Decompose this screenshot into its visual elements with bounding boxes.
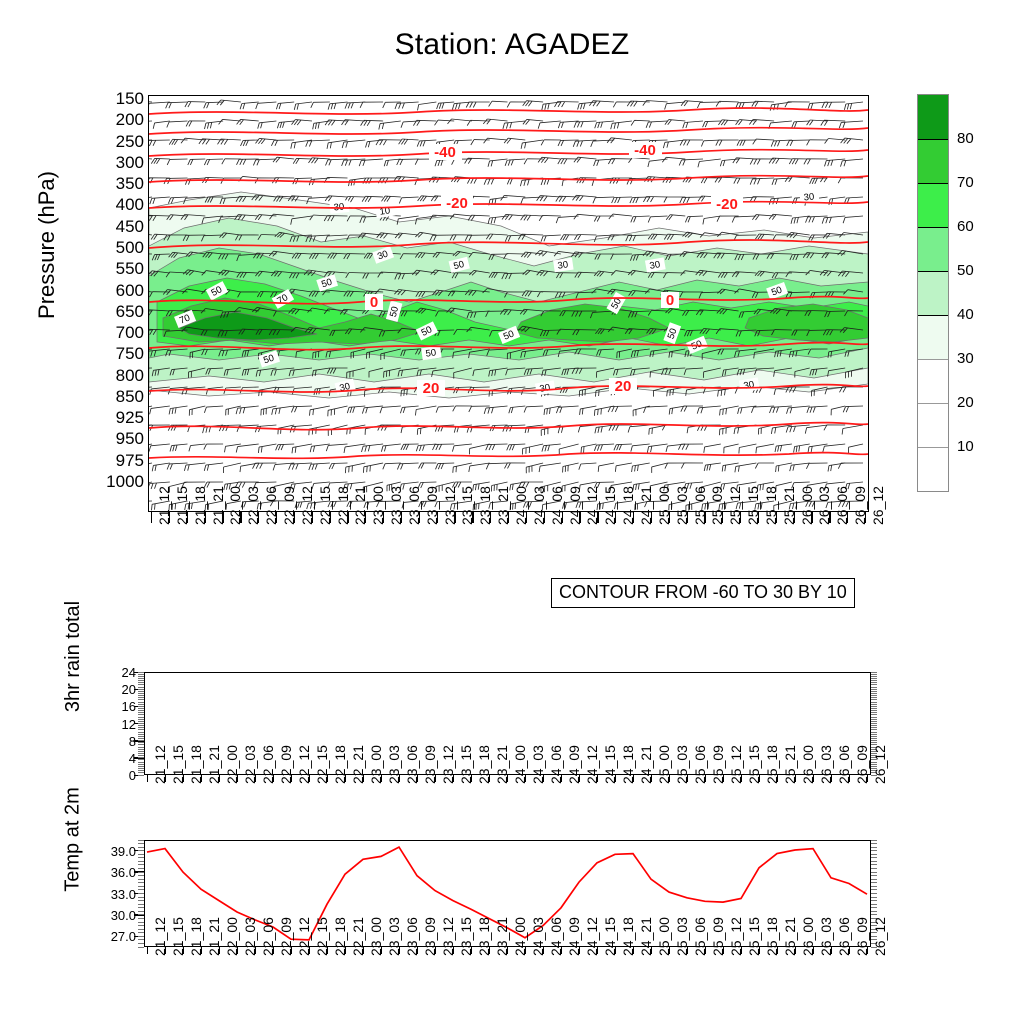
y-axis-tick-label: 250 xyxy=(116,133,144,150)
x-axis-tick-label: 22_00 xyxy=(227,486,243,525)
x-axis-tick-label: 22_21 xyxy=(350,917,366,956)
temp-y-minor-tick xyxy=(138,939,144,940)
x-axis-tick-label: 24_12 xyxy=(584,486,600,525)
x-axis-tick-label: 24_18 xyxy=(620,745,636,784)
x-axis-tick-label: 24_00 xyxy=(512,745,528,784)
temp-y-minor-tick xyxy=(871,889,877,890)
rain-y-minor-tick xyxy=(138,693,144,694)
temp-y-minor-tick xyxy=(871,861,877,862)
x-axis-tick-label: 24_06 xyxy=(548,917,564,956)
rain-y-minor-tick xyxy=(871,693,877,694)
x-axis-tick-label: 26_12 xyxy=(872,917,888,956)
temp-y-minor-tick xyxy=(138,900,144,901)
rain-y-tick-label: 8 xyxy=(102,734,136,749)
colorbar-segment xyxy=(918,139,948,183)
x-axis-tick-label: 25_00 xyxy=(656,917,672,956)
colorbar-segment xyxy=(918,447,948,491)
x-axis-tick-label: 24_12 xyxy=(584,745,600,784)
temp-y-minor-tick xyxy=(871,914,877,915)
x-axis-tick-label: 23_06 xyxy=(404,917,420,956)
rain-y-minor-tick xyxy=(871,687,877,688)
rain-y-minor-tick xyxy=(138,680,144,681)
temp-y-minor-tick xyxy=(871,847,877,848)
temp-y-minor-tick xyxy=(138,904,144,905)
x-axis-tick-label: 25_06 xyxy=(692,486,708,525)
x-axis-tick-label: 22_09 xyxy=(278,917,294,956)
x-axis-tick-label: 23_03 xyxy=(386,745,402,784)
x-axis-tick-label: 22_18 xyxy=(332,917,348,956)
x-axis-tick-label: 22_00 xyxy=(224,917,240,956)
x-axis-tick-label: 26_03 xyxy=(818,745,834,784)
x-axis-tick-label: 25_06 xyxy=(692,917,708,956)
temp-y-minor-tick xyxy=(871,897,877,898)
rain-y-minor-tick xyxy=(871,695,877,696)
x-axis-tick-label: 24_09 xyxy=(566,745,582,784)
temp-y-minor-tick xyxy=(138,911,144,912)
temp-y-minor-tick xyxy=(871,843,877,844)
svg-text:30: 30 xyxy=(743,379,755,392)
colorbar-tick-label: 50 xyxy=(957,262,974,279)
x-axis-tick-label: 24_18 xyxy=(620,917,636,956)
x-axis-tick-label: 23_15 xyxy=(458,917,474,956)
rain-y-minor-tick xyxy=(138,753,144,754)
x-axis-tick-label: 22_09 xyxy=(278,745,294,784)
svg-text:30: 30 xyxy=(539,382,551,395)
temp-y-minor-tick xyxy=(138,897,144,898)
rain-y-minor-tick xyxy=(138,766,144,767)
rain-y-minor-tick xyxy=(138,691,144,692)
x-axis-tick-label: 26_12 xyxy=(870,486,886,525)
temp-y-minor-tick xyxy=(871,875,877,876)
svg-text:-20: -20 xyxy=(716,196,738,213)
rain-y-minor-tick xyxy=(138,682,144,683)
x-axis-tick-label: 22_18 xyxy=(335,486,351,525)
x-axis-tick-label: 21_18 xyxy=(188,917,204,956)
svg-text:20: 20 xyxy=(423,380,440,397)
x-axis-tick-label: 25_21 xyxy=(782,745,798,784)
y-axis-tick-label: 650 xyxy=(116,303,144,320)
x-axis-tick-label: 24_15 xyxy=(602,917,618,956)
x-axis-tick-label: 23_21 xyxy=(494,917,510,956)
x-axis-tick-label: 23_09 xyxy=(424,486,440,525)
rain-y-minor-tick xyxy=(138,740,144,741)
x-axis-tick xyxy=(147,775,148,782)
rain-y-minor-tick xyxy=(138,738,144,739)
humidity-colorbar[interactable] xyxy=(917,94,949,492)
rain-y-minor-tick xyxy=(138,772,144,773)
rain-y-minor-tick xyxy=(871,732,877,733)
x-axis-tick-label: 26_09 xyxy=(852,486,868,525)
x-axis-tick-label: 25_00 xyxy=(656,745,672,784)
x-axis-tick-label: 25_18 xyxy=(764,745,780,784)
x-axis-tick-label: 23_03 xyxy=(386,917,402,956)
colorbar-segment xyxy=(918,403,948,447)
colorbar-segment xyxy=(918,227,948,271)
colorbar-tick-label: 80 xyxy=(957,130,974,147)
y-axis-tick-label: 975 xyxy=(116,452,144,469)
rain-y-minor-tick xyxy=(138,749,144,750)
rain-y-minor-tick xyxy=(138,704,144,705)
x-axis-tick-label: 25_12 xyxy=(728,917,744,956)
x-axis-tick-label: 22_03 xyxy=(242,917,258,956)
rain-y-minor-tick xyxy=(138,676,144,677)
svg-text:0: 0 xyxy=(666,292,674,309)
rain-y-minor-tick xyxy=(871,680,877,681)
rain-y-minor-tick xyxy=(138,674,144,675)
temp-y-minor-tick xyxy=(138,857,144,858)
rain-panel-title: 3hr rain total xyxy=(62,574,85,739)
y-axis-tick-label: 200 xyxy=(116,111,144,128)
temp-y-minor-tick xyxy=(138,872,144,873)
temp-y-minor-tick xyxy=(871,900,877,901)
rain-y-minor-tick xyxy=(138,695,144,696)
x-axis-tick-label: 22_12 xyxy=(299,486,315,525)
rain-y-minor-tick xyxy=(138,734,144,735)
x-axis-tick-label: 24_03 xyxy=(530,917,546,956)
temp-y-minor-tick xyxy=(871,882,877,883)
svg-text:20: 20 xyxy=(615,378,632,395)
rain-y-minor-tick xyxy=(138,706,144,707)
temp-y-tick-label: 39.0 xyxy=(94,844,136,859)
x-axis-tick-label: 22_00 xyxy=(224,745,240,784)
x-axis-tick-label: 21_12 xyxy=(152,745,168,784)
x-axis-tick-label: 26_06 xyxy=(834,486,850,525)
rain-y-minor-tick xyxy=(138,714,144,715)
rain-y-minor-tick xyxy=(871,738,877,739)
colorbar-segment xyxy=(918,183,948,227)
rain-y-minor-tick xyxy=(138,708,144,709)
x-axis-tick-label: 22_21 xyxy=(352,486,368,525)
x-axis-tick-label: 23_09 xyxy=(422,917,438,956)
rain-y-minor-tick xyxy=(871,704,877,705)
colorbar-tick-label: 20 xyxy=(957,394,974,411)
x-axis-tick-label: 26_12 xyxy=(872,745,888,784)
x-axis-tick-label: 25_21 xyxy=(781,486,797,525)
x-axis-tick-label: 22_18 xyxy=(332,745,348,784)
y-axis-tick-label: 700 xyxy=(116,324,144,341)
rain-y-minor-tick xyxy=(871,689,877,690)
x-axis-tick-label: 24_06 xyxy=(549,486,565,525)
rain-y-minor-tick xyxy=(138,759,144,760)
cross-section-plot[interactable]: 50 30 70 70 50 50 30 50 50 50 50 50 50 5… xyxy=(148,95,869,512)
rain-y-minor-tick xyxy=(871,734,877,735)
rain-y-minor-tick xyxy=(138,747,144,748)
x-axis-tick-label: 25_03 xyxy=(674,486,690,525)
x-axis-tick-label: 24_21 xyxy=(638,486,654,525)
temp-y-minor-tick xyxy=(138,864,144,865)
colorbar-tick-label: 10 xyxy=(957,438,974,455)
x-axis-tick-label: 21_18 xyxy=(188,745,204,784)
x-axis-tick-label: 24_03 xyxy=(531,486,547,525)
x-axis-tick-label: 22_06 xyxy=(260,745,276,784)
temp-y-minor-tick xyxy=(871,886,877,887)
rain-y-minor-tick xyxy=(871,674,877,675)
x-axis-tick-label: 21_21 xyxy=(206,917,222,956)
svg-text:-40: -40 xyxy=(434,144,456,161)
x-axis-tick-label: 23_06 xyxy=(406,486,422,525)
x-axis-tick-label: 23_18 xyxy=(476,917,492,956)
rain-y-tick-label: 16 xyxy=(102,699,136,714)
svg-text:50: 50 xyxy=(425,347,437,359)
colorbar-segment xyxy=(918,315,948,359)
rain-y-minor-tick xyxy=(138,727,144,728)
x-axis-tick-label: 23_15 xyxy=(459,486,475,525)
x-axis-tick xyxy=(151,512,152,523)
colorbar-segment xyxy=(918,95,948,139)
rain-y-minor-tick xyxy=(871,742,877,743)
x-axis-tick-label: 23_12 xyxy=(440,745,456,784)
x-axis-tick-label: 22_15 xyxy=(314,917,330,956)
x-axis-tick-label: 25_15 xyxy=(746,745,762,784)
rain-y-minor-tick xyxy=(138,678,144,679)
rain-y-minor-tick xyxy=(871,678,877,679)
temp-y-minor-tick xyxy=(138,925,144,926)
rain-y-minor-tick xyxy=(138,719,144,720)
page-title: Station: AGADEZ xyxy=(0,28,1024,62)
rain-y-minor-tick xyxy=(138,762,144,763)
temp-y-tick-label: 33.0 xyxy=(94,887,136,902)
temp-y-minor-tick xyxy=(871,872,877,873)
y-axis-tick-label: 150 xyxy=(116,90,144,107)
x-axis-tick-label: 21_21 xyxy=(210,486,226,525)
rain-y-minor-tick xyxy=(138,712,144,713)
temp-y-tick-label: 27.0 xyxy=(94,929,136,944)
temp-y-minor-tick xyxy=(138,886,144,887)
x-axis-tick-label: 26_09 xyxy=(854,917,870,956)
x-axis-tick-label: 26_00 xyxy=(799,486,815,525)
temp-y-minor-tick xyxy=(871,907,877,908)
cross-section-y-axis-labels: 1502002503003504004505005506006507007508… xyxy=(70,95,144,512)
svg-text:30: 30 xyxy=(649,259,661,272)
x-axis-tick-label: 22_09 xyxy=(281,486,297,525)
rain-y-minor-tick xyxy=(871,682,877,683)
x-axis-tick-label: 24_15 xyxy=(602,486,618,525)
rain-y-minor-tick xyxy=(871,708,877,709)
rain-y-minor-tick xyxy=(138,684,144,685)
temp-y-minor-tick xyxy=(871,904,877,905)
rain-y-minor-tick xyxy=(138,757,144,758)
x-axis-tick-label: 26_03 xyxy=(816,486,832,525)
x-axis-tick-label: 25_09 xyxy=(710,917,726,956)
x-axis-tick-label: 25_12 xyxy=(727,486,743,525)
rain-y-minor-tick xyxy=(138,723,144,724)
y-axis-tick-label: 950 xyxy=(116,430,144,447)
rain-y-tick-label: 12 xyxy=(102,717,136,732)
colorbar-tick-label: 60 xyxy=(957,218,974,235)
temp-y-minor-tick xyxy=(138,918,144,919)
rain-y-minor-tick xyxy=(138,751,144,752)
rain-y-minor-tick xyxy=(138,689,144,690)
x-axis-tick-label: 24_00 xyxy=(513,486,529,525)
rain-y-tick-label: 0 xyxy=(102,768,136,783)
y-axis-tick-label: 1000 xyxy=(106,473,144,490)
x-axis-tick-label: 25_12 xyxy=(728,745,744,784)
svg-text:0: 0 xyxy=(370,294,378,311)
x-axis-tick-label: 23_00 xyxy=(368,745,384,784)
x-axis-tick xyxy=(147,947,148,954)
x-axis-tick-label: 25_09 xyxy=(709,486,725,525)
x-axis-tick-label: 24_09 xyxy=(566,917,582,956)
x-axis-tick-label: 24_03 xyxy=(530,745,546,784)
x-axis-tick-label: 26_06 xyxy=(836,745,852,784)
rain-y-minor-tick xyxy=(138,697,144,698)
rain-y-minor-tick xyxy=(871,717,877,718)
x-axis-tick-label: 24_09 xyxy=(567,486,583,525)
temp-y-minor-tick xyxy=(138,932,144,933)
rain-y-minor-tick xyxy=(871,721,877,722)
rain-y-minor-tick xyxy=(138,775,144,776)
x-axis-tick-label: 23_00 xyxy=(370,486,386,525)
rain-y-minor-tick xyxy=(138,755,144,756)
rain-y-minor-tick xyxy=(871,719,877,720)
x-axis-tick-label: 25_15 xyxy=(745,486,761,525)
colorbar-tick-label: 70 xyxy=(957,174,974,191)
temp-y-minor-tick xyxy=(138,943,144,944)
x-axis-tick-label: 25_09 xyxy=(710,745,726,784)
x-axis-tick-label: 23_21 xyxy=(495,486,511,525)
svg-text:-20: -20 xyxy=(446,195,468,212)
temp-y-minor-tick xyxy=(871,911,877,912)
rain-y-minor-tick xyxy=(871,691,877,692)
cross-section-y-axis-title: Pressure (hPa) xyxy=(34,135,60,355)
x-axis-tick-label: 24_12 xyxy=(584,917,600,956)
x-axis-tick-label: 21_15 xyxy=(170,917,186,956)
y-axis-tick-label: 850 xyxy=(116,388,144,405)
x-axis-tick-label: 21_12 xyxy=(152,917,168,956)
rain-y-minor-tick xyxy=(871,736,877,737)
x-axis-tick-label: 21_15 xyxy=(174,486,190,525)
rain-y-minor-tick xyxy=(138,687,144,688)
rain-y-minor-tick xyxy=(138,721,144,722)
temp-y-minor-tick xyxy=(138,850,144,851)
temp-y-minor-tick xyxy=(871,854,877,855)
x-axis-tick-label: 22_21 xyxy=(350,745,366,784)
rain-y-minor-tick xyxy=(871,727,877,728)
x-axis-tick-label: 22_06 xyxy=(263,486,279,525)
x-axis-tick-label: 25_06 xyxy=(692,745,708,784)
x-axis-tick-label: 24_21 xyxy=(638,745,654,784)
temp-y-minor-tick xyxy=(138,947,144,948)
x-axis-tick-label: 22_03 xyxy=(242,745,258,784)
x-axis-tick-label: 23_09 xyxy=(422,745,438,784)
x-axis-tick-label: 26_03 xyxy=(818,917,834,956)
rain-y-minor-tick xyxy=(871,723,877,724)
rain-y-minor-tick xyxy=(138,770,144,771)
y-axis-tick-label: 800 xyxy=(116,367,144,384)
temp-y-minor-tick xyxy=(871,850,877,851)
colorbar-tick-label: 30 xyxy=(957,350,974,367)
rain-y-minor-tick xyxy=(138,768,144,769)
humidity-shading xyxy=(149,192,868,398)
rain-y-minor-tick xyxy=(138,764,144,765)
x-axis-tick-label: 23_06 xyxy=(404,745,420,784)
temp-y-minor-tick xyxy=(138,879,144,880)
rain-y-minor-tick xyxy=(138,717,144,718)
temp-y-minor-tick xyxy=(138,868,144,869)
y-axis-tick-label: 450 xyxy=(116,218,144,235)
rain-y-tick-label: 24 xyxy=(102,665,136,680)
colorbar-tick-label: 40 xyxy=(957,306,974,323)
x-axis-tick-label: 22_03 xyxy=(245,486,261,525)
colorbar-segment xyxy=(918,271,948,315)
x-axis-tick-label: 22_15 xyxy=(314,745,330,784)
x-axis-tick-label: 23_21 xyxy=(494,745,510,784)
rain-y-minor-tick xyxy=(871,699,877,700)
rain-y-minor-tick xyxy=(871,676,877,677)
x-axis-tick-label: 26_09 xyxy=(854,745,870,784)
x-axis-tick-label: 25_18 xyxy=(764,917,780,956)
rain-y-minor-tick xyxy=(871,712,877,713)
temp-y-minor-tick xyxy=(138,847,144,848)
x-axis-tick-label: 23_15 xyxy=(458,745,474,784)
rain-y-minor-tick xyxy=(138,732,144,733)
x-axis-tick-label: 24_21 xyxy=(638,917,654,956)
temp-y-minor-tick xyxy=(871,893,877,894)
x-axis-tick-label: 23_18 xyxy=(477,486,493,525)
rain-y-minor-tick xyxy=(871,706,877,707)
y-axis-tick-label: 400 xyxy=(116,196,144,213)
temp-y-minor-tick xyxy=(138,907,144,908)
temp-y-minor-tick xyxy=(138,875,144,876)
x-axis-tick-label: 25_15 xyxy=(746,917,762,956)
rain-y-minor-tick xyxy=(871,684,877,685)
temp-y-minor-tick xyxy=(871,840,877,841)
x-axis-tick-label: 26_00 xyxy=(800,745,816,784)
x-axis-tick-label: 22_12 xyxy=(296,745,312,784)
x-axis-tick-label: 24_00 xyxy=(512,917,528,956)
colorbar-segment xyxy=(918,359,948,403)
contour-note: CONTOUR FROM -60 TO 30 BY 10 xyxy=(551,578,855,608)
x-axis-tick-label: 23_12 xyxy=(440,917,456,956)
temp-y-minor-tick xyxy=(138,889,144,890)
rain-y-minor-tick xyxy=(871,740,877,741)
x-axis-tick-label: 23_12 xyxy=(442,486,458,525)
temp-y-tick-label: 36.0 xyxy=(94,865,136,880)
temp-y-minor-tick xyxy=(871,879,877,880)
rain-y-minor-tick xyxy=(871,714,877,715)
x-axis-tick-label: 25_03 xyxy=(674,745,690,784)
x-axis-tick-label: 23_18 xyxy=(476,745,492,784)
y-axis-tick-label: 550 xyxy=(116,260,144,277)
temp-y-minor-tick xyxy=(138,840,144,841)
rain-y-minor-tick xyxy=(871,672,877,673)
rain-y-minor-tick xyxy=(138,672,144,673)
x-axis-tick-label: 22_15 xyxy=(317,486,333,525)
rain-y-minor-tick xyxy=(138,742,144,743)
temp-y-minor-tick xyxy=(138,882,144,883)
temp-y-minor-tick xyxy=(138,854,144,855)
rain-y-minor-tick xyxy=(138,736,144,737)
rain-y-minor-tick xyxy=(138,729,144,730)
x-axis-tick-label: 21_18 xyxy=(192,486,208,525)
x-axis-tick-label: 26_00 xyxy=(800,917,816,956)
y-axis-tick-label: 750 xyxy=(116,345,144,362)
y-axis-tick-label: 600 xyxy=(116,282,144,299)
y-axis-tick-label: 300 xyxy=(116,154,144,171)
x-axis-tick-label: 21_12 xyxy=(156,486,172,525)
x-axis-tick-label: 25_18 xyxy=(763,486,779,525)
x-axis-tick-label: 24_06 xyxy=(548,745,564,784)
rain-y-minor-tick xyxy=(138,699,144,700)
x-axis-tick-label: 23_03 xyxy=(388,486,404,525)
temp-y-minor-tick xyxy=(871,857,877,858)
rain-y-minor-tick xyxy=(138,702,144,703)
y-axis-tick-label: 500 xyxy=(116,239,144,256)
rain-y-minor-tick xyxy=(138,725,144,726)
x-axis-tick-label: 22_12 xyxy=(296,917,312,956)
rain-y-minor-tick xyxy=(138,710,144,711)
svg-text:-40: -40 xyxy=(634,142,656,159)
